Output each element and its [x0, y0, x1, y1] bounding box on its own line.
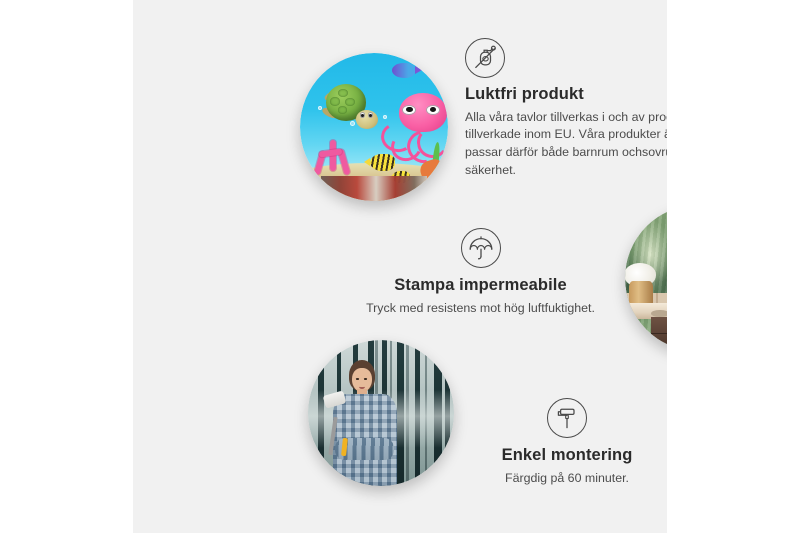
foreground-strip	[321, 176, 428, 201]
promo-graphic: Luktfri produkt Alla våra tavlor tillver…	[0, 0, 800, 533]
no-spray-bottle-icon	[465, 38, 505, 78]
feature-description: Tryck med resistens mot hög luftfuktighe…	[343, 300, 618, 318]
feature-image-odorless	[300, 53, 448, 201]
feature-block-mounting: Enkel montering Färgdig på 60 minuter.	[451, 398, 667, 487]
feature-image-waterproof	[625, 205, 667, 351]
soap-dish	[651, 310, 667, 317]
feature-description: Alla våra tavlor tillverkas i och av pro…	[465, 109, 667, 179]
feature-title: Enkel montering	[451, 446, 667, 466]
feature-image-mounting	[308, 340, 454, 486]
content-panel: Luktfri produkt Alla våra tavlor tillver…	[133, 0, 667, 533]
turtle-icon	[322, 84, 378, 131]
feature-title: Stampa impermeabile	[343, 276, 618, 296]
forest-scene	[308, 340, 454, 486]
bathroom-scene	[625, 205, 667, 351]
feature-title: Luktfri produkt	[465, 85, 667, 105]
feature-block-odorless: Luktfri produkt Alla våra tavlor tillver…	[465, 38, 667, 179]
yellow-fish-icon	[370, 154, 395, 172]
umbrella-icon	[461, 228, 501, 268]
underwater-scene	[300, 53, 448, 201]
vanity-cabinet	[651, 317, 667, 351]
feature-block-waterproof: Stampa impermeabile Tryck med resistens …	[343, 228, 618, 317]
paint-roller-icon	[547, 398, 587, 438]
feature-description: Färgdig på 60 minuter.	[451, 470, 667, 488]
blue-fish-icon	[392, 63, 416, 78]
woman-with-roller	[328, 360, 404, 486]
